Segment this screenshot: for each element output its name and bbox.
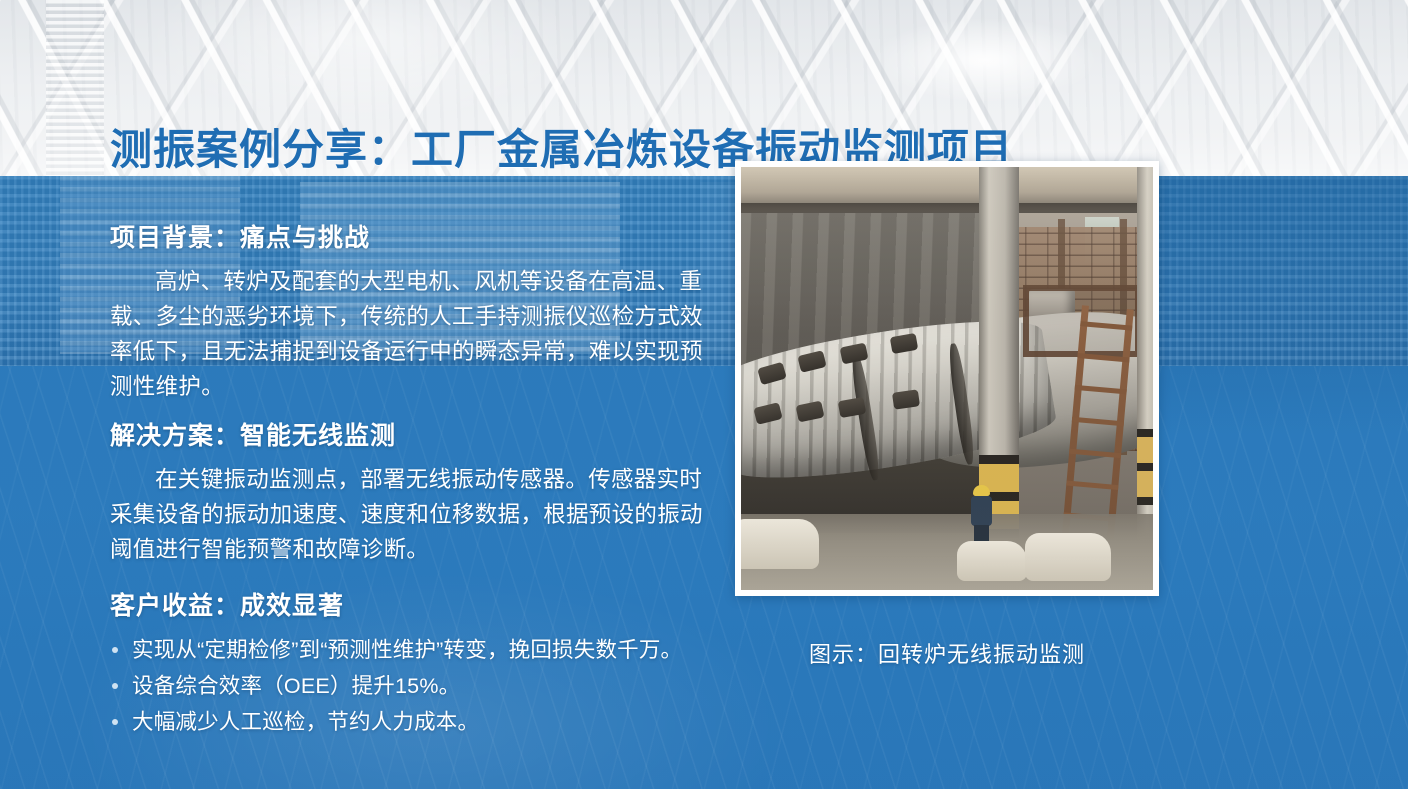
section-paragraph: 在关键振动监测点，部署无线振动传感器。传感器实时采集设备的振动加速度、速度和位移… bbox=[110, 462, 710, 567]
list-item: 大幅减少人工巡检，节约人力成本。 bbox=[110, 704, 730, 740]
section-project-background: 项目背景：痛点与挑战 高炉、转炉及配套的大型电机、风机等设备在高温、重载、多尘的… bbox=[110, 218, 710, 404]
section-paragraph: 高炉、转炉及配套的大型电机、风机等设备在高温、重载、多尘的恶劣环境下，传统的人工… bbox=[110, 264, 710, 404]
section-heading: 解决方案：智能无线监测 bbox=[110, 416, 710, 452]
bullet-dot-icon bbox=[112, 647, 118, 653]
section-solution: 解决方案：智能无线监测 在关键振动监测点，部署无线振动传感器。传感器实时采集设备… bbox=[110, 416, 710, 567]
section-heading: 项目背景：痛点与挑战 bbox=[110, 218, 710, 254]
photo-card bbox=[735, 161, 1159, 596]
bullet-dot-icon bbox=[112, 683, 118, 689]
list-item-label: 大幅减少人工巡检，节约人力成本。 bbox=[132, 710, 479, 734]
list-item-label: 实现从“定期检修”到“预测性维护”转变，挽回损失数千万。 bbox=[132, 638, 682, 662]
list-item: 设备综合效率（OEE）提升15%。 bbox=[110, 668, 730, 704]
bullet-dot-icon bbox=[112, 719, 118, 725]
list-item: 实现从“定期检修”到“预测性维护”转变，挽回损失数千万。 bbox=[110, 632, 730, 668]
content-text-column: 项目背景：痛点与挑战 高炉、转炉及配套的大型电机、风机等设备在高温、重载、多尘的… bbox=[0, 176, 730, 789]
rotary-kiln-photo bbox=[741, 167, 1153, 590]
photo-caption: 图示：回转炉无线振动监测 bbox=[735, 637, 1159, 669]
photo-dust-haze bbox=[741, 167, 1153, 590]
list-item-label: 设备综合效率（OEE）提升15%。 bbox=[132, 674, 460, 698]
benefits-bullet-list: 实现从“定期检修”到“预测性维护”转变，挽回损失数千万。 设备综合效率（OEE）… bbox=[110, 632, 730, 740]
section-customer-benefits: 客户收益：成效显著 实现从“定期检修”到“预测性维护”转变，挽回损失数千万。 设… bbox=[110, 586, 730, 740]
section-heading: 客户收益：成效显著 bbox=[110, 586, 730, 622]
slide-root: 测振案例分享：工厂金属冶炼设备振动监测项目 项目背景：痛点与挑战 高炉、转炉及配… bbox=[0, 0, 1408, 789]
